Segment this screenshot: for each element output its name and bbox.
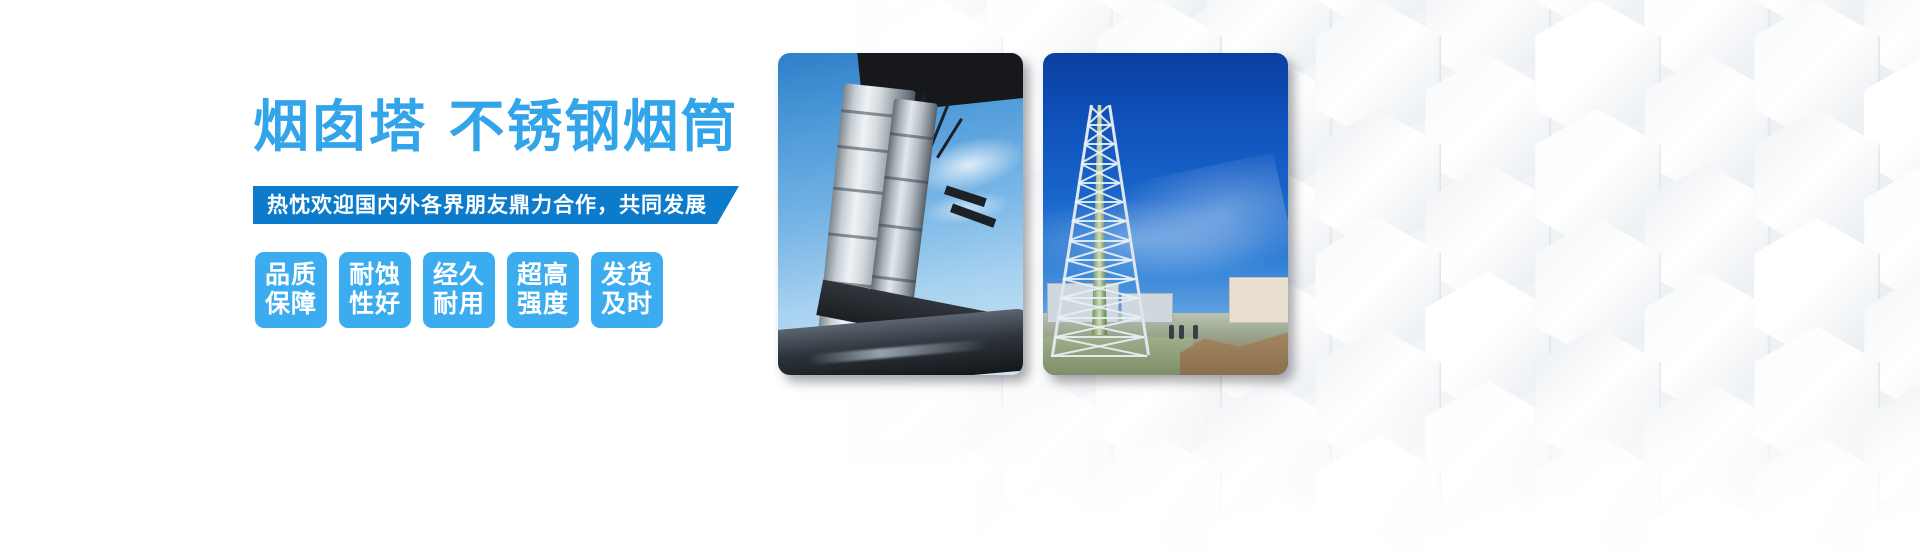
photo-stainless-steel-chimney-stack: [778, 53, 1023, 375]
hexagon-tile: [1425, 0, 1551, 91]
hexagon-tile: [1754, 218, 1880, 363]
badge-line-1: 品质: [255, 260, 327, 289]
hexagon-tile: [1864, 54, 1920, 199]
feature-badge-list: 品质保障耐蚀性好经久耐用超高强度发货及时: [255, 252, 663, 328]
hexagon-tile: [1315, 109, 1441, 254]
badge-line-1: 经久: [423, 260, 495, 289]
feature-badge[interactable]: 品质保障: [255, 252, 327, 328]
hexagon-tile: [1644, 0, 1770, 91]
promo-banner: 烟囱塔 不锈钢烟筒 热忱欢迎国内外各界朋友鼎力合作，共同发展 品质保障耐蚀性好经…: [0, 0, 1920, 555]
hexagon-tile: [1535, 0, 1661, 145]
feature-badge[interactable]: 超高强度: [507, 252, 579, 328]
photo-steel-lattice-tower-chimney: [1043, 53, 1288, 375]
hexagon-tile: [1644, 163, 1770, 308]
badge-line-2: 耐用: [423, 289, 495, 318]
badge-line-1: 发货: [591, 260, 663, 289]
hexagon-tile: [1864, 0, 1920, 91]
hexagon-tile: [1425, 163, 1551, 308]
worker-figure: [1169, 325, 1174, 339]
banner-headline: 烟囱塔 不锈钢烟筒: [253, 95, 739, 159]
hexagon-tile: [1754, 0, 1880, 145]
feature-badge[interactable]: 发货及时: [591, 252, 663, 328]
worker-figure: [1179, 325, 1184, 339]
tower-brace: [1057, 317, 1141, 319]
worker-figure: [1193, 325, 1198, 339]
badge-line-2: 及时: [591, 289, 663, 318]
hexagon-tile: [1535, 0, 1661, 36]
site-building: [1229, 277, 1288, 323]
tower-brace: [1069, 240, 1129, 242]
hexagon-tile: [1535, 218, 1661, 363]
badge-line-2: 保障: [255, 289, 327, 318]
badge-line-2: 强度: [507, 289, 579, 318]
feature-badge[interactable]: 经久耐用: [423, 252, 495, 328]
hexagon-tile: [1644, 54, 1770, 199]
badge-line-2: 性好: [339, 289, 411, 318]
badge-line-1: 耐蚀: [339, 260, 411, 289]
banner-subtitle-ribbon: 热忱欢迎国内外各界朋友鼎力合作，共同发展: [253, 186, 739, 224]
tower-brace: [1051, 355, 1147, 357]
hexagon-tile: [1754, 109, 1880, 254]
badge-line-1: 超高: [507, 260, 579, 289]
banner-subtitle-text: 热忱欢迎国内外各界朋友鼎力合作，共同发展: [253, 186, 739, 224]
tower-brace: [1054, 336, 1144, 338]
hexagon-tile: [1315, 0, 1441, 145]
hexagon-tile: [1864, 163, 1920, 308]
hexagon-tile: [1425, 54, 1551, 199]
hexagon-tile: [1754, 0, 1880, 36]
hexagon-tile: [1315, 218, 1441, 363]
hexagon-tile: [1315, 0, 1441, 36]
hexagon-tile: [1535, 109, 1661, 254]
feature-badge[interactable]: 耐蚀性好: [339, 252, 411, 328]
